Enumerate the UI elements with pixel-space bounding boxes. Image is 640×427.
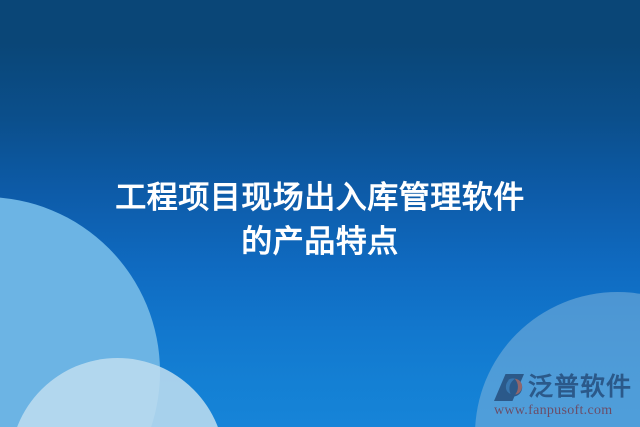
promo-banner: 工程项目现场出入库管理软件 的产品特点 泛普软件 www.fanpusoft.c…: [0, 0, 640, 427]
decorative-circle-small: [10, 358, 225, 427]
brand-logo-row: 泛普软件: [494, 372, 632, 402]
fanpu-diamond-logo-icon: [494, 374, 524, 401]
banner-title-line-1: 工程项目现场出入库管理软件: [0, 176, 640, 220]
brand-url: www.fanpusoft.com: [494, 403, 632, 419]
banner-title-line-2: 的产品特点: [0, 220, 640, 264]
brand-wordmark: 泛普软件: [528, 374, 632, 401]
banner-title: 工程项目现场出入库管理软件 的产品特点: [0, 176, 640, 264]
brand-watermark: 泛普软件 www.fanpusoft.com: [494, 372, 632, 419]
